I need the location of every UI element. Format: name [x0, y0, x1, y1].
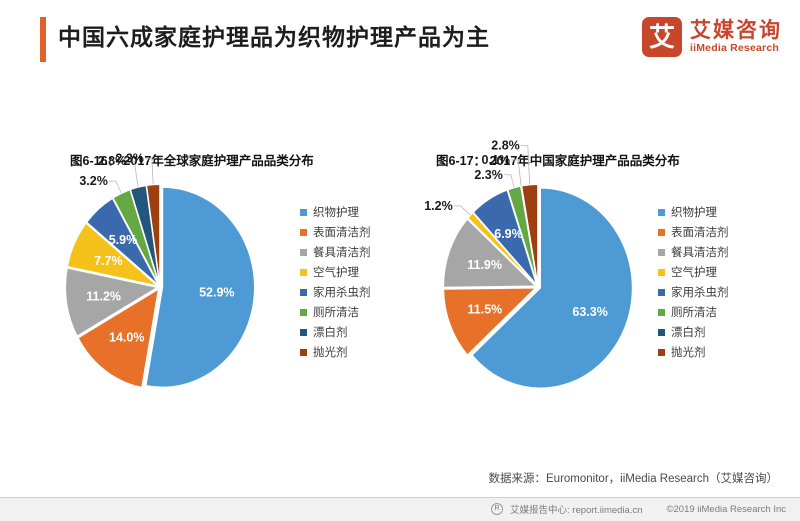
brand-logo: 艾 艾媒咨询 iiMedia Research	[642, 17, 782, 57]
legend-global: 织物护理表面清洁剂餐具清洁剂空气护理家用杀虫剂厕所清洁漂白剂抛光剂	[300, 202, 408, 362]
label-leader-line	[504, 175, 514, 188]
legend-china: 织物护理表面清洁剂餐具清洁剂空气护理家用杀虫剂厕所清洁漂白剂抛光剂	[658, 202, 766, 362]
legend-item[interactable]: 漂白剂	[658, 322, 766, 342]
pie-slice-label: 2.3%	[474, 168, 503, 182]
legend-item-label: 餐具清洁剂	[313, 244, 371, 260]
legend-item-label: 厕所清洁	[313, 304, 359, 320]
logo-name-cn: 艾媒咨询	[690, 20, 782, 42]
legend-item[interactable]: 空气护理	[300, 262, 408, 282]
legend-item[interactable]: 织物护理	[300, 202, 408, 222]
legend-item-label: 织物护理	[671, 204, 717, 220]
label-leader-line	[109, 181, 121, 193]
legend-swatch-icon	[300, 209, 307, 216]
legend-item-label: 表面清洁剂	[313, 224, 371, 240]
legend-item[interactable]: 抛光剂	[658, 342, 766, 362]
label-leader-line	[454, 206, 470, 215]
logo-text: 艾媒咨询 iiMedia Research	[690, 20, 782, 53]
legend-item-label: 织物护理	[313, 204, 359, 220]
pie-slice-label: 3.2%	[79, 174, 108, 188]
legend-swatch-icon	[658, 269, 665, 276]
pie-slice-label: 52.9%	[199, 286, 234, 300]
bottom-bar-content: R 艾媒报告中心: report.iimedia.cn ©2019 iiMedi…	[491, 502, 786, 516]
chart-panel-china: 图6-17： 2017年中国家庭护理产品品类分布 63.3%11.5%11.9%…	[400, 150, 780, 415]
pie-slice-label: 11.9%	[467, 258, 502, 272]
chart-panel-global: 图6-16： 2017年全球家庭护理产品品类分布 52.9%14.0%11.2%…	[22, 150, 402, 415]
legend-item-label: 空气护理	[313, 264, 359, 280]
legend-item[interactable]: 抛光剂	[300, 342, 408, 362]
legend-swatch-icon	[300, 249, 307, 256]
pie-slice-label: 7.7%	[94, 254, 123, 268]
legend-item-label: 漂白剂	[313, 324, 348, 340]
infographic-page: 中国六成家庭护理品为织物护理产品为主 艾 艾媒咨询 iiMedia Resear…	[0, 0, 800, 520]
legend-swatch-icon	[658, 289, 665, 296]
pie-slice-label: 11.2%	[86, 290, 121, 304]
legend-item[interactable]: 餐具清洁剂	[300, 242, 408, 262]
pie-slice-label: 2.8%	[491, 138, 520, 152]
pie-slice-label: 5.9%	[109, 233, 137, 247]
legend-item[interactable]: 空气护理	[658, 262, 766, 282]
legend-item-label: 厕所清洁	[671, 304, 717, 320]
legend-item[interactable]: 织物护理	[658, 202, 766, 222]
legend-swatch-icon	[658, 209, 665, 216]
legend-swatch-icon	[658, 309, 665, 316]
logo-mark-icon: 艾	[642, 17, 682, 57]
pie-slice-label: 14.0%	[109, 330, 144, 344]
chart-title-china: 图6-17： 2017年中国家庭护理产品品类分布	[436, 150, 680, 169]
legend-swatch-icon	[658, 329, 665, 336]
legend-item-label: 表面清洁剂	[671, 224, 729, 240]
legend-swatch-icon	[300, 329, 307, 336]
legend-item-label: 空气护理	[671, 264, 717, 280]
legend-swatch-icon	[658, 229, 665, 236]
legend-item-label: 家用杀虫剂	[313, 284, 371, 300]
legend-swatch-icon	[300, 349, 307, 356]
data-source-note: 数据来源：Euromonitor，iiMedia Research（艾媒咨询）	[489, 470, 778, 486]
legend-swatch-icon	[300, 229, 307, 236]
registered-mark-icon: R	[491, 503, 503, 515]
legend-swatch-icon	[658, 249, 665, 256]
legend-swatch-icon	[658, 349, 665, 356]
legend-item-label: 餐具清洁剂	[671, 244, 729, 260]
pie-svg-china: 63.3%11.5%11.9%1.2%6.9%2.3%0.1%2.8%	[428, 182, 658, 397]
title-accent-bar	[40, 17, 46, 62]
pie-slice-label: 6.9%	[494, 227, 523, 241]
legend-item[interactable]: 家用杀虫剂	[658, 282, 766, 302]
logo-name-en: iiMedia Research	[690, 43, 782, 54]
pie-svg-global: 52.9%14.0%11.2%7.7%5.9%3.2%2.8%2.3%	[50, 182, 280, 397]
legend-item-label: 漂白剂	[671, 324, 706, 340]
pie-slice-label: 0.1%	[482, 153, 511, 167]
pie-slice-label: 11.5%	[468, 303, 503, 317]
legend-item[interactable]: 餐具清洁剂	[658, 242, 766, 262]
legend-item[interactable]: 表面清洁剂	[658, 222, 766, 242]
copyright-text: ©2019 iiMedia Research Inc	[667, 504, 786, 515]
page-header: 中国六成家庭护理品为织物护理产品为主 艾 艾媒咨询 iiMedia Resear…	[0, 0, 800, 78]
legend-swatch-icon	[300, 289, 307, 296]
legend-item[interactable]: 厕所清洁	[658, 302, 766, 322]
legend-item-label: 家用杀虫剂	[671, 284, 729, 300]
legend-item[interactable]: 漂白剂	[300, 322, 408, 342]
page-title: 中国六成家庭护理品为织物护理产品为主	[58, 18, 490, 52]
legend-swatch-icon	[300, 309, 307, 316]
pie-chart-china: 63.3%11.5%11.9%1.2%6.9%2.3%0.1%2.8%	[428, 182, 658, 397]
report-center-link[interactable]: 艾媒报告中心: report.iimedia.cn	[510, 502, 643, 516]
legend-item[interactable]: 家用杀虫剂	[300, 282, 408, 302]
legend-swatch-icon	[300, 269, 307, 276]
legend-item-label: 抛光剂	[671, 344, 706, 360]
legend-item[interactable]: 厕所清洁	[300, 302, 408, 322]
pie-slice-label: 63.3%	[572, 305, 607, 319]
pie-slice-label: 2.3%	[115, 151, 144, 165]
pie-chart-global: 52.9%14.0%11.2%7.7%5.9%3.2%2.8%2.3%	[50, 182, 280, 397]
legend-item[interactable]: 表面清洁剂	[300, 222, 408, 242]
pie-slice-label: 1.2%	[424, 199, 453, 213]
bottom-bar: R 艾媒报告中心: report.iimedia.cn ©2019 iiMedi…	[0, 497, 800, 521]
legend-item-label: 抛光剂	[313, 344, 348, 360]
